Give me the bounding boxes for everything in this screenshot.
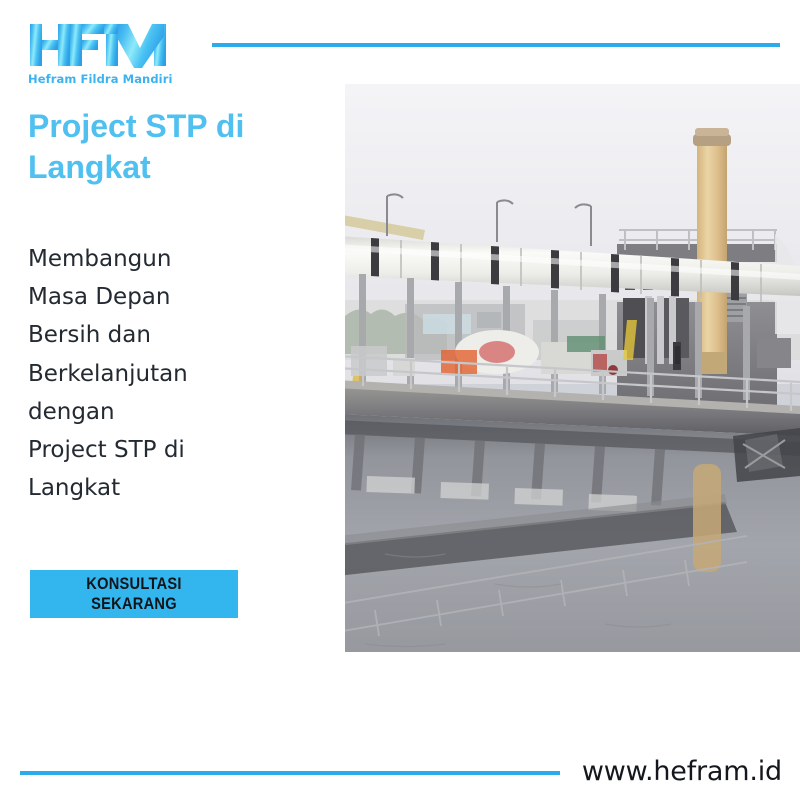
cta-button-label: KONSULTASI SEKARANG bbox=[45, 574, 224, 614]
brand-logo-block[interactable]: Hefram Fildra Mandiri bbox=[28, 22, 178, 86]
hfm-monogram-icon bbox=[28, 22, 168, 68]
footer-divider-rule bbox=[20, 771, 560, 775]
website-url[interactable]: www.hefram.id bbox=[582, 756, 782, 787]
header-divider-rule bbox=[212, 43, 780, 47]
konsultasi-sekarang-button[interactable]: KONSULTASI SEKARANG bbox=[30, 570, 238, 618]
brand-tagline: Hefram Fildra Mandiri bbox=[28, 72, 178, 86]
page-title: Project STP di Langkat bbox=[28, 106, 308, 188]
body-description: Membangun Masa Depan Bersih dan Berkelan… bbox=[28, 240, 288, 507]
project-photo bbox=[345, 84, 800, 652]
treatment-plant-photo-illustration bbox=[345, 84, 800, 652]
